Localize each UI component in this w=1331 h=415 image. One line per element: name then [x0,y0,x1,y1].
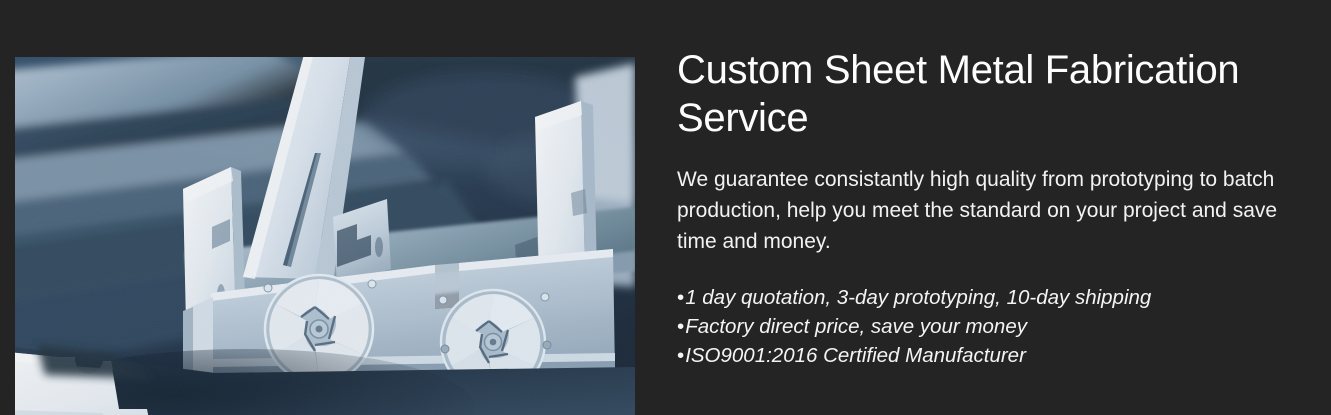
list-item: 1 day quotation, 3-day prototyping, 10-d… [677,283,1292,312]
product-photo [15,57,635,415]
list-item: Factory direct price, save your money [677,312,1292,341]
hero-description: We guarantee consistantly high quality f… [677,164,1292,257]
list-item: ISO9001:2016 Certified Manufacturer [677,341,1292,370]
hero-banner: Custom Sheet Metal Fabrication Service W… [0,0,1331,415]
feature-list: 1 day quotation, 3-day prototyping, 10-d… [677,283,1292,370]
sheet-metal-bracket-illustration [15,57,635,415]
page-title: Custom Sheet Metal Fabrication Service [677,46,1292,142]
hero-copy: Custom Sheet Metal Fabrication Service W… [677,46,1292,370]
